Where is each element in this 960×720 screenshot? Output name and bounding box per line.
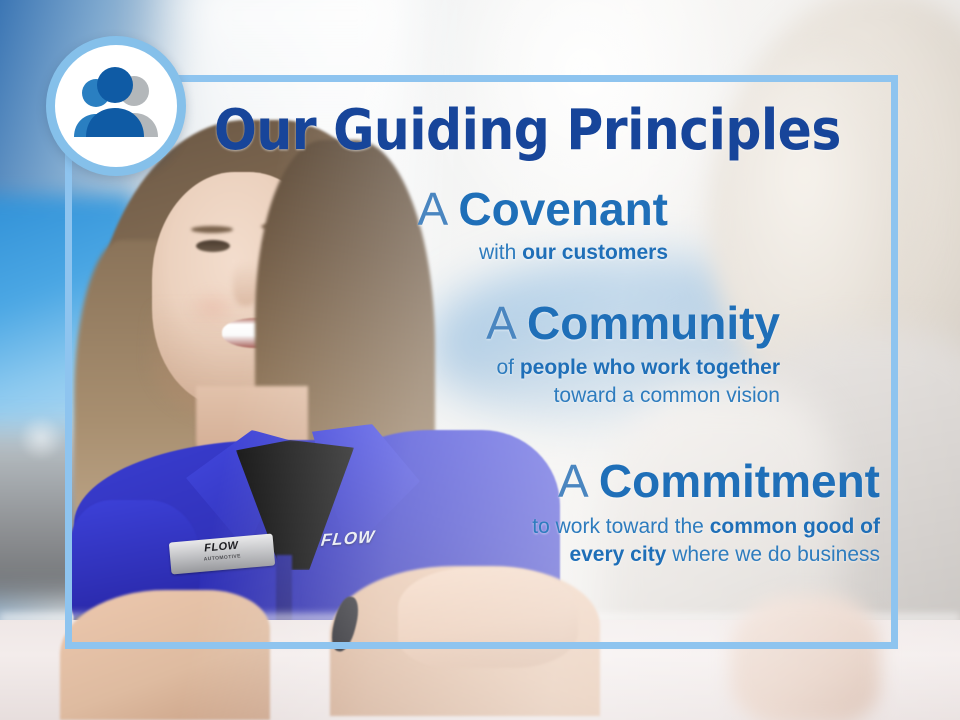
guiding-principles-banner: FLOW FLOW AUTOMOTIVE Our Guiding Prin bbox=[0, 0, 960, 720]
page-title: Our Guiding Principles bbox=[214, 98, 874, 163]
showroom-logo-blur bbox=[18, 415, 64, 461]
principle-community-lead: A bbox=[486, 297, 514, 349]
principle-commitment-lead: A bbox=[558, 455, 586, 507]
principle-commitment-heading: A Commitment bbox=[420, 458, 880, 505]
principle-community-subtext: of people who work togethertoward a comm… bbox=[420, 354, 780, 409]
employee-hands bbox=[398, 568, 578, 668]
principle-community-heading: A Community bbox=[340, 300, 780, 347]
employee-arm-left bbox=[60, 590, 270, 720]
employee-eye-left bbox=[196, 240, 230, 252]
customer-hand bbox=[730, 595, 880, 720]
principle-covenant-subtext: with our customers bbox=[300, 239, 668, 267]
principle-commitment-subtext: to work toward the common good of every … bbox=[530, 513, 880, 568]
principle-commitment-keyword: Commitment bbox=[599, 455, 880, 507]
principle-community: A Community of people who work togethert… bbox=[340, 300, 780, 409]
principle-covenant-heading: A Covenant bbox=[300, 186, 668, 233]
badge-circle bbox=[46, 36, 186, 176]
principle-covenant-keyword: Covenant bbox=[458, 183, 668, 235]
employee-eyebrow-left bbox=[191, 226, 233, 233]
group-of-people-icon bbox=[55, 45, 177, 167]
principle-covenant-lead: A bbox=[417, 183, 445, 235]
principle-community-keyword: Community bbox=[527, 297, 780, 349]
principle-commitment: A Commitment to work toward the common g… bbox=[420, 458, 880, 568]
principle-covenant: A Covenant with our customers bbox=[300, 186, 668, 267]
